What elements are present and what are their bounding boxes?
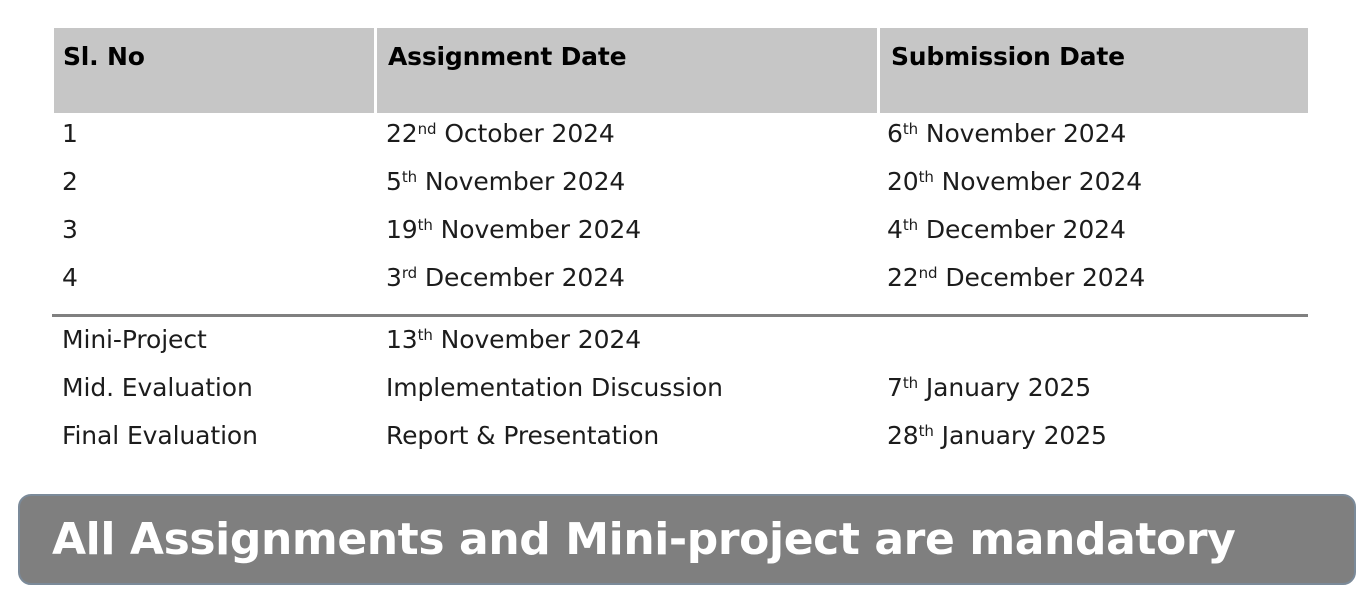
submission-day: 22: [887, 263, 919, 292]
cell-assignment-date: Implementation Discussion: [386, 373, 887, 402]
table-row: Mini-Project 13th November 2024: [54, 325, 1308, 373]
assignment-rows-group: 1 22nd October 2024 6th November 2024 2 …: [54, 113, 1308, 311]
assignment-schedule-table: Sl. No Assignment Date Submission Date 1…: [54, 28, 1308, 469]
assignment-ordinal: th: [418, 326, 433, 344]
cell-assignment-date: Report & Presentation: [386, 421, 887, 450]
submission-ordinal: th: [903, 120, 918, 138]
table-row: 4 3rd December 2024 22nd December 2024: [54, 263, 1308, 311]
assignment-day: 3: [386, 263, 402, 292]
column-header-submission-date: Submission Date: [880, 28, 1308, 113]
cell-sl-no: 4: [54, 263, 386, 292]
assignment-month-year: Report & Presentation: [386, 421, 659, 450]
submission-day: 4: [887, 215, 903, 244]
table-row: 2 5th November 2024 20th November 2024: [54, 167, 1308, 215]
assignment-month-year: December 2024: [417, 263, 625, 292]
cell-submission-date: 28th January 2025: [887, 421, 1308, 450]
cell-submission-date: 6th November 2024: [887, 119, 1308, 148]
cell-assignment-date: 22nd October 2024: [386, 119, 887, 148]
assignment-ordinal: nd: [418, 120, 437, 138]
column-header-sl-no: Sl. No: [54, 28, 374, 113]
cell-assignment-date: 19th November 2024: [386, 215, 887, 244]
cell-milestone-label: Mid. Evaluation: [54, 373, 386, 402]
assignment-day: 5: [386, 167, 402, 196]
submission-day: 28: [887, 421, 919, 450]
cell-assignment-date: 13th November 2024: [386, 325, 887, 354]
assignment-ordinal: th: [402, 168, 417, 186]
cell-assignment-date: 3rd December 2024: [386, 263, 887, 292]
assignment-day: 19: [386, 215, 418, 244]
assignment-day: 22: [386, 119, 418, 148]
table-row: 1 22nd October 2024 6th November 2024: [54, 119, 1308, 167]
assignment-month-year: October 2024: [436, 119, 614, 148]
cell-submission-date: 20th November 2024: [887, 167, 1308, 196]
table-header-row: Sl. No Assignment Date Submission Date: [54, 28, 1308, 113]
cell-assignment-date: 5th November 2024: [386, 167, 887, 196]
milestone-rows-group: Mini-Project 13th November 2024 Mid. Eva…: [54, 317, 1308, 469]
submission-day: 7: [887, 373, 903, 402]
submission-ordinal: th: [903, 216, 918, 234]
mandatory-notice-banner: All Assignments and Mini-project are man…: [18, 494, 1356, 585]
assignment-ordinal: rd: [402, 264, 417, 282]
cell-submission-date: 7th January 2025: [887, 373, 1308, 402]
cell-sl-no: 1: [54, 119, 386, 148]
column-header-assignment-date: Assignment Date: [377, 28, 877, 113]
assignment-month-year: November 2024: [417, 167, 625, 196]
assignment-month-year: Implementation Discussion: [386, 373, 723, 402]
assignment-ordinal: th: [418, 216, 433, 234]
assignment-month-year: November 2024: [433, 325, 641, 354]
submission-ordinal: th: [903, 374, 918, 392]
submission-day: 20: [887, 167, 919, 196]
mandatory-notice-text: All Assignments and Mini-project are man…: [20, 514, 1235, 565]
submission-month-year: December 2024: [918, 215, 1126, 244]
submission-month-year: November 2024: [918, 119, 1126, 148]
submission-day: 6: [887, 119, 903, 148]
submission-ordinal: th: [919, 422, 934, 440]
submission-month-year: January 2025: [934, 421, 1107, 450]
assignment-day: 13: [386, 325, 418, 354]
cell-milestone-label: Final Evaluation: [54, 421, 386, 450]
table-row: 3 19th November 2024 4th December 2024: [54, 215, 1308, 263]
submission-ordinal: th: [919, 168, 934, 186]
assignment-month-year: November 2024: [433, 215, 641, 244]
cell-milestone-label: Mini-Project: [54, 325, 386, 354]
submission-ordinal: nd: [919, 264, 938, 282]
submission-month-year: December 2024: [937, 263, 1145, 292]
cell-sl-no: 3: [54, 215, 386, 244]
cell-submission-date: 22nd December 2024: [887, 263, 1308, 292]
table-row: Final Evaluation Report & Presentation 2…: [54, 421, 1308, 469]
cell-submission-date: 4th December 2024: [887, 215, 1308, 244]
submission-month-year: January 2025: [918, 373, 1091, 402]
cell-sl-no: 2: [54, 167, 386, 196]
submission-month-year: November 2024: [934, 167, 1142, 196]
table-row: Mid. Evaluation Implementation Discussio…: [54, 373, 1308, 421]
